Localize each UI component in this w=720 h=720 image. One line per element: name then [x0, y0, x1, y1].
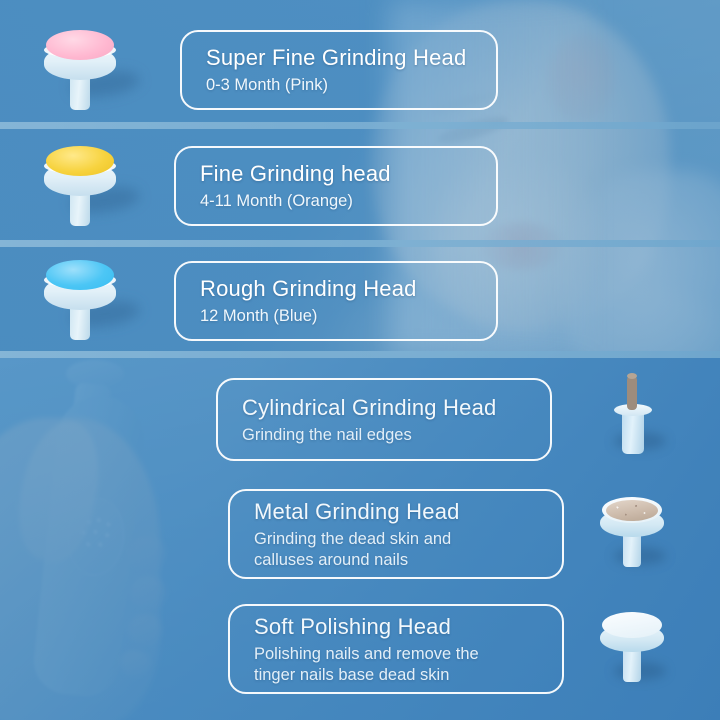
card-subtitle: 4-11 Month (Orange)	[200, 191, 496, 212]
top-section: Super Fine Grinding Head 0-3 Month (Pink…	[0, 0, 720, 358]
card-subtitle: 12 Month (Blue)	[200, 306, 496, 327]
cylindrical-grinding-head-icon	[592, 370, 672, 462]
grinding-head-pink-icon	[36, 26, 156, 122]
card-fine-grinding-head[interactable]: Fine Grinding head 4-11 Month (Orange)	[174, 146, 498, 226]
card-rough-grinding-head[interactable]: Rough Grinding Head 12 Month (Blue)	[174, 261, 498, 341]
card-description-line-1: Grinding the nail edges	[242, 425, 550, 446]
soft-polishing-head-icon	[592, 600, 672, 692]
grinding-head-blue-icon	[36, 256, 156, 352]
infographic-stage: Super Fine Grinding Head 0-3 Month (Pink…	[0, 0, 720, 720]
card-title: Super Fine Grinding Head	[206, 44, 496, 72]
card-metal-grinding-head[interactable]: Metal Grinding Head Grinding the dead sk…	[228, 489, 564, 579]
metal-grinding-head-icon	[592, 485, 672, 577]
card-title: Rough Grinding Head	[200, 275, 496, 303]
card-title: Fine Grinding head	[200, 160, 496, 188]
bottom-section: Cylindrical Grinding Head Grinding the n…	[0, 358, 720, 720]
card-title: Metal Grinding Head	[254, 498, 562, 526]
card-description-line-1: Polishing nails and remove the	[254, 644, 562, 665]
card-description-line-2: calluses around nails	[254, 550, 562, 571]
card-description-line-2: tinger nails base dead skin	[254, 665, 562, 686]
card-title: Cylindrical Grinding Head	[242, 394, 550, 422]
grinding-head-orange-icon	[36, 142, 156, 238]
card-cylindrical-grinding-head[interactable]: Cylindrical Grinding Head Grinding the n…	[216, 378, 552, 461]
row-divider-2	[0, 240, 720, 247]
card-title: Soft Polishing Head	[254, 613, 562, 641]
card-super-fine-grinding-head[interactable]: Super Fine Grinding Head 0-3 Month (Pink…	[180, 30, 498, 110]
section-divider	[0, 351, 720, 358]
card-subtitle: 0-3 Month (Pink)	[206, 75, 496, 96]
row-divider-1	[0, 122, 720, 129]
card-soft-polishing-head[interactable]: Soft Polishing Head Polishing nails and …	[228, 604, 564, 694]
card-description-line-1: Grinding the dead skin and	[254, 529, 562, 550]
